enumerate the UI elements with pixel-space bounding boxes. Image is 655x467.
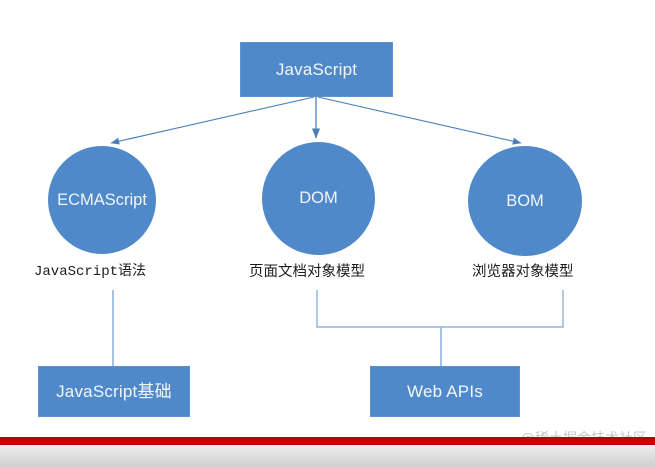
node-bom-label: BOM [506,192,544,211]
caption-ecmascript: JavaScript语法 [34,260,146,280]
caption-bom: 浏览器对象模型 [472,260,574,281]
node-javascript-basics[interactable]: JavaScript基础 [38,366,190,417]
node-javascript[interactable]: JavaScript [240,42,393,97]
diagram-canvas: JavaScript ECMAScript DOM BOM JavaScript… [0,0,655,467]
node-dom-label: DOM [299,189,338,208]
connector-dom-bom-to-web-apis [317,290,563,327]
accent-bar [0,437,655,445]
node-ecmascript[interactable]: ECMAScript [48,146,156,254]
connector-javascript-to-bom [318,97,521,143]
connector-javascript-to-ecmascript [111,97,314,143]
node-ecmascript-label: ECMAScript [57,191,147,210]
node-dom[interactable]: DOM [262,142,375,255]
caption-dom: 页面文档对象模型 [249,260,365,281]
node-javascript-basics-label: JavaScript基础 [56,382,172,402]
node-bom[interactable]: BOM [468,146,582,256]
node-web-apis[interactable]: Web APIs [370,366,520,417]
bottom-strip [0,445,655,467]
node-javascript-label: JavaScript [276,60,357,80]
node-web-apis-label: Web APIs [407,382,483,402]
